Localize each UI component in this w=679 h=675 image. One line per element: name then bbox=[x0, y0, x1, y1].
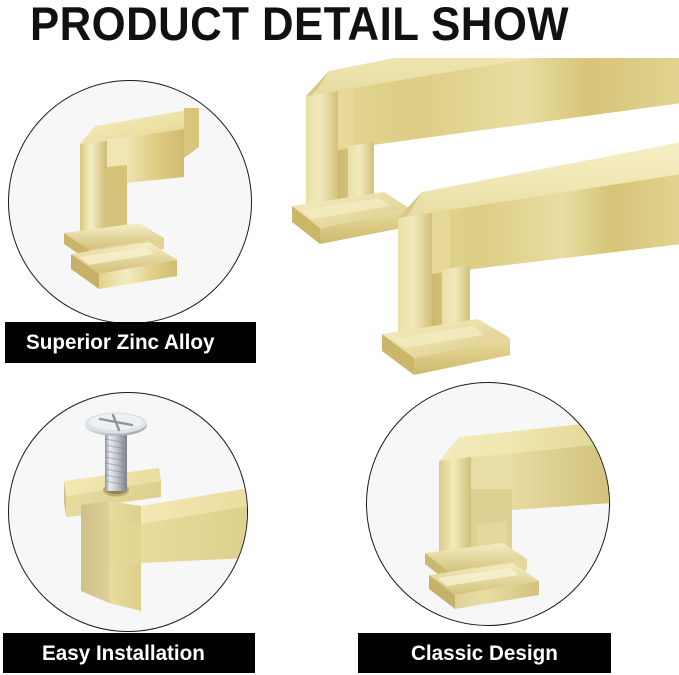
easy-installation-closeup-image bbox=[9, 393, 248, 632]
product-hero-image bbox=[262, 58, 679, 388]
feature-label-text: Superior Zinc Alloy bbox=[26, 330, 214, 355]
product-detail-page: PRODUCT DETAIL SHOW bbox=[0, 0, 679, 675]
feature-label-text: Classic Design bbox=[411, 641, 558, 666]
handle-lower bbox=[382, 142, 679, 375]
zinc-alloy-closeup-image bbox=[9, 81, 252, 324]
page-title: PRODUCT DETAIL SHOW bbox=[30, 0, 551, 50]
feature-label-superior-zinc-alloy: Superior Zinc Alloy bbox=[5, 322, 256, 363]
feature-inset-superior-zinc-alloy bbox=[8, 80, 252, 324]
classic-design-closeup-image bbox=[367, 383, 610, 626]
feature-inset-easy-installation bbox=[8, 392, 248, 632]
feature-label-easy-installation: Easy Installation bbox=[3, 633, 255, 673]
feature-inset-classic-design bbox=[366, 382, 610, 626]
feature-label-text: Easy Installation bbox=[42, 641, 205, 666]
feature-label-classic-design: Classic Design bbox=[358, 633, 611, 673]
